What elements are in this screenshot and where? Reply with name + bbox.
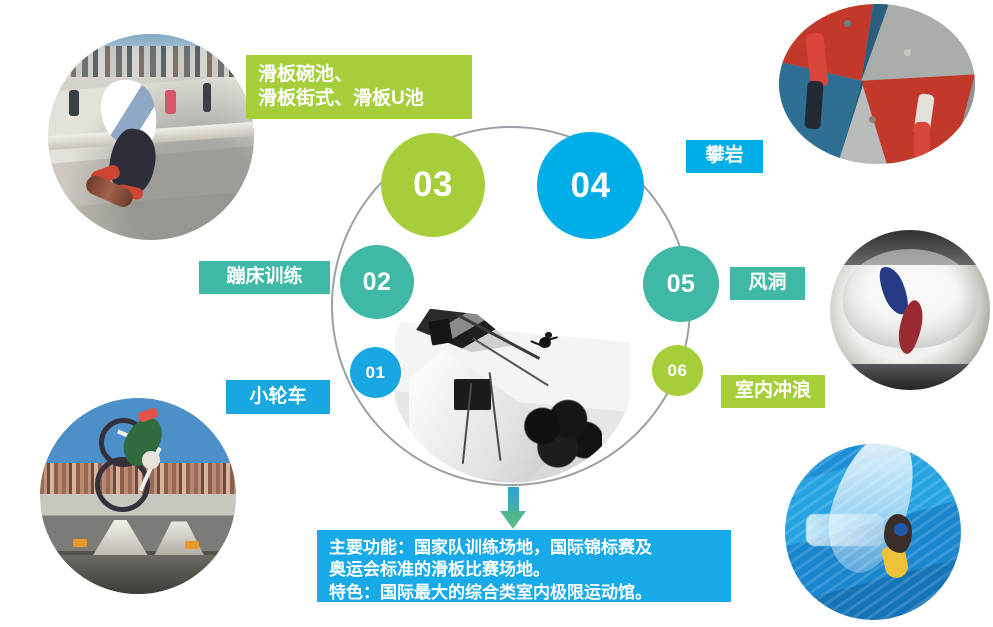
photo-skate-bowl [48, 34, 254, 240]
down-arrow-icon [500, 487, 526, 529]
node-04[interactable]: 04 [537, 132, 644, 239]
skate-bowl-image [48, 34, 254, 240]
bystander-dark [203, 83, 211, 112]
photo-bmx [40, 398, 236, 594]
ramp-left [91, 520, 150, 559]
tunnel-floor [830, 364, 990, 390]
node-01[interactable]: 01 [350, 347, 401, 398]
airborne-bmx-rider [529, 331, 560, 355]
label-trampoline-training: 蹦床训练 [199, 261, 330, 294]
arrow-shaft [508, 487, 519, 513]
label-bmx: 小轮车 [226, 380, 330, 414]
infographic-canvas: 03 04 02 05 01 06 滑板碗池、 滑板街式、滑板U池 蹦床训练 小… [0, 0, 993, 627]
airborne-rider-helmet [545, 332, 552, 337]
node-03[interactable]: 03 [381, 133, 485, 237]
wind-tunnel-image [830, 230, 990, 390]
climbing-hold-1 [844, 20, 851, 27]
mega-ramp-image [395, 305, 630, 490]
info-line-1: 主要功能：国家队训练场地，国际锦标赛及 [329, 537, 719, 559]
info-line-3: 特色：国际最大的综合类室内极限运动馆。 [329, 582, 719, 604]
bystander-left [69, 90, 79, 117]
climbing-wall-image [779, 4, 975, 164]
label-wind-tunnel: 风洞 [730, 267, 805, 300]
ramp-right [154, 521, 205, 556]
bmx-rider-helmet [142, 451, 160, 469]
crowd-band [48, 46, 254, 77]
ground [40, 555, 236, 594]
node-05[interactable]: 05 [643, 246, 719, 322]
label-climbing: 攀岩 [686, 140, 763, 173]
bmx-image [40, 398, 236, 594]
photo-center-mega-ramp [395, 305, 630, 490]
bystander-pink [165, 90, 175, 115]
marker-right [185, 541, 199, 549]
info-line-2: 奥运会标准的滑板比赛场地。 [329, 559, 719, 581]
marker-left [73, 539, 87, 547]
surfer-cap [894, 523, 908, 535]
arrow-head [500, 511, 526, 529]
climber-2-legs [914, 122, 930, 157]
label-indoor-surf: 室内冲浪 [721, 375, 825, 408]
indoor-surf-image [785, 444, 961, 620]
ramp-equipment-box [454, 379, 492, 410]
label-skate-facilities: 滑板碗池、 滑板街式、滑板U池 [246, 55, 472, 119]
photo-indoor-surf [785, 444, 961, 620]
tree-silhouettes [517, 398, 602, 468]
info-box: 主要功能：国家队训练场地，国际锦标赛及 奥运会标准的滑板比赛场地。 特色：国际最… [317, 530, 731, 602]
node-06[interactable]: 06 [652, 345, 703, 396]
ramp-equipment-box-top [428, 318, 453, 345]
flowrider-logo [806, 514, 883, 546]
photo-wind-tunnel [830, 230, 990, 390]
photo-climbing-wall [779, 4, 975, 164]
node-02[interactable]: 02 [340, 245, 414, 319]
